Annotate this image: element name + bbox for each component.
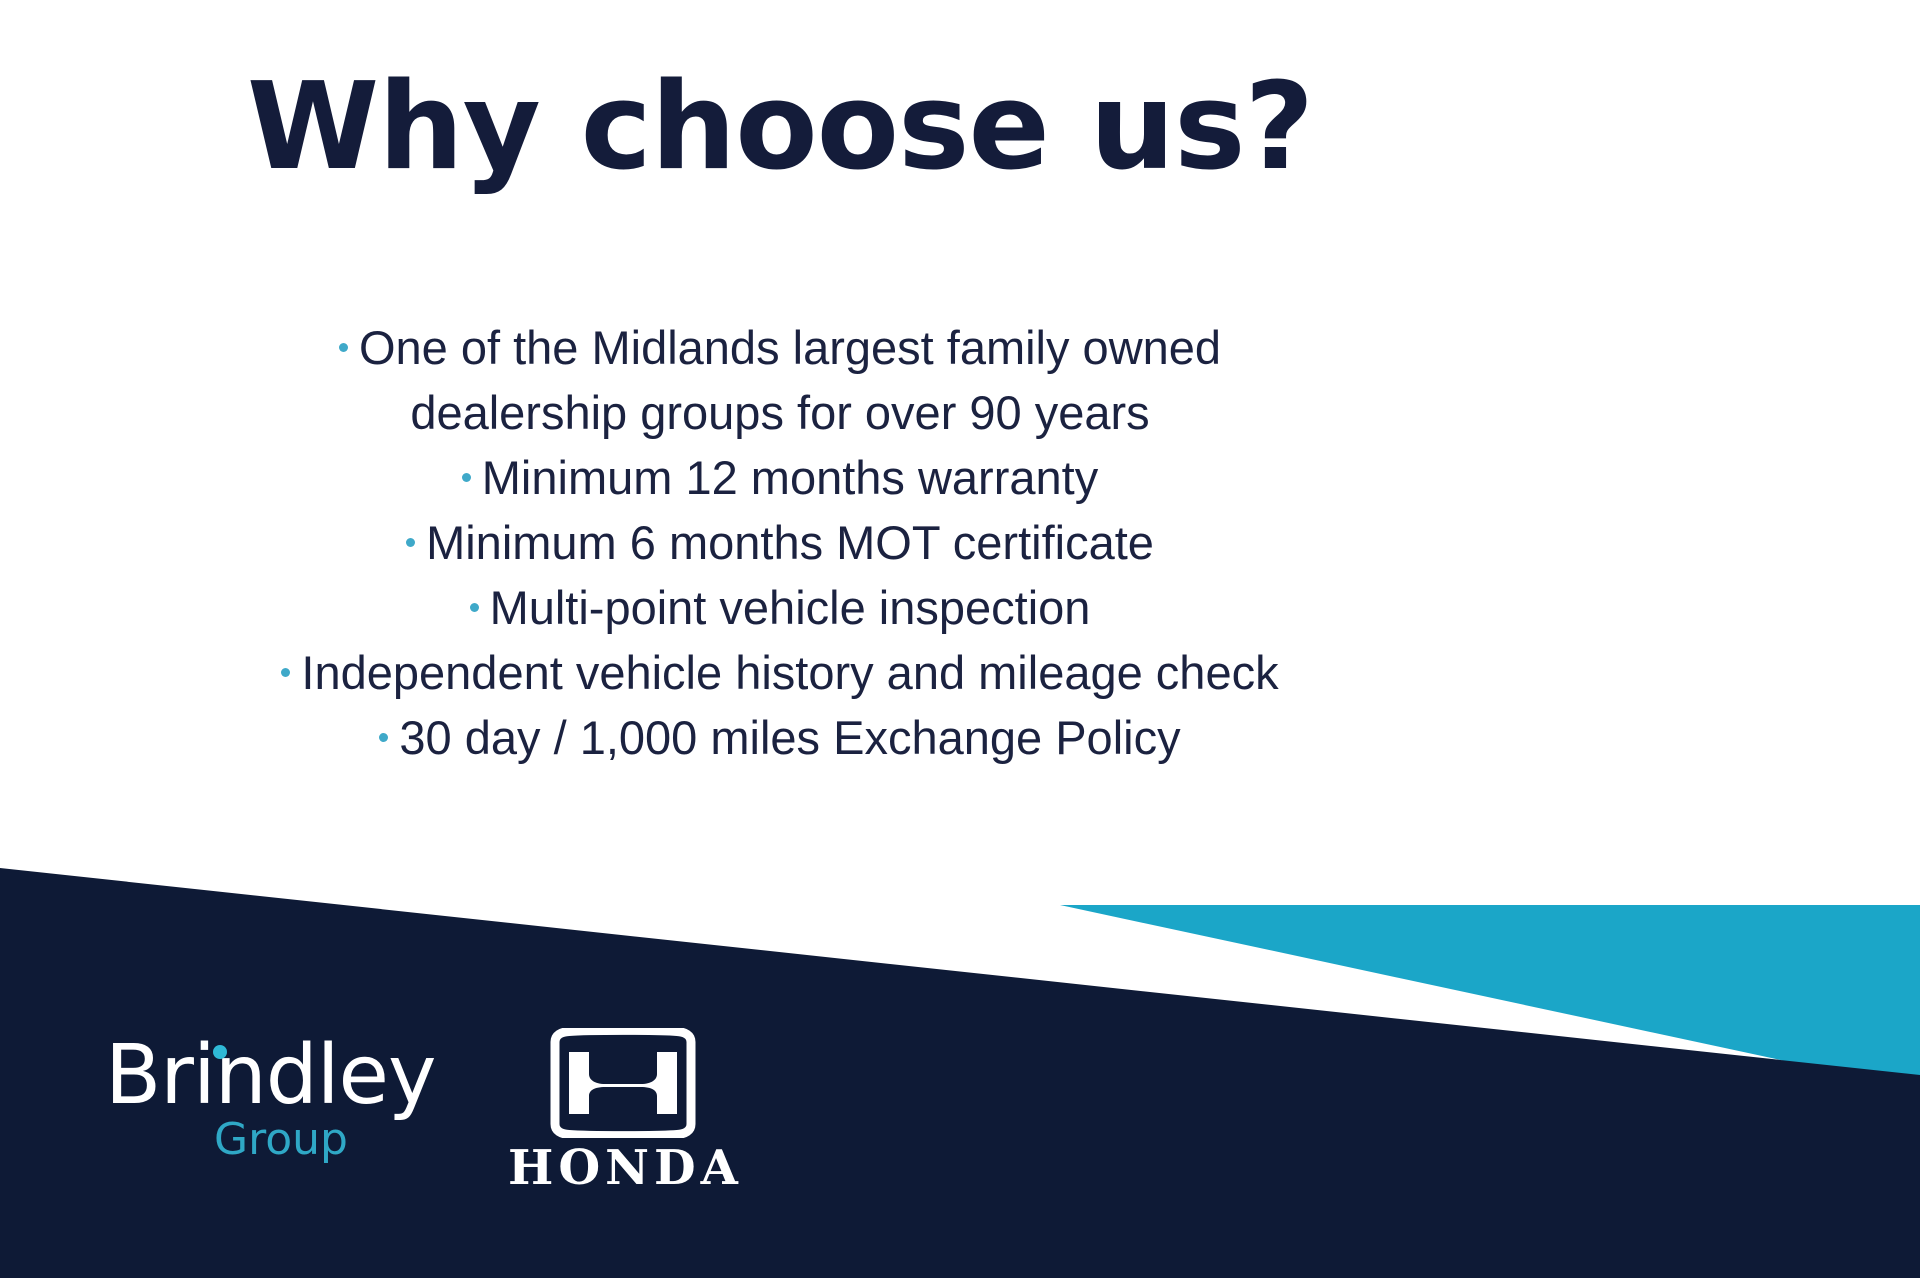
list-item-label: One of the Midlands largest family owned	[359, 321, 1221, 374]
list-item-label: Independent vehicle history and mileage …	[301, 646, 1278, 699]
list-item: One of the Midlands largest family owned	[0, 315, 1560, 380]
honda-wordmark: HONDA	[508, 1144, 738, 1192]
brindley-wordmark-text: Brindley	[105, 1028, 436, 1123]
page-title: Why choose us?	[0, 68, 1560, 188]
bullet-dot-icon	[339, 343, 348, 352]
list-item-label: 30 day / 1,000 miles Exchange Policy	[399, 711, 1180, 764]
list-item: Multi-point vehicle inspection	[0, 575, 1560, 640]
brindley-group-logo: Brindley Group	[105, 1032, 485, 1165]
list-item: dealership groups for over 90 years	[0, 380, 1560, 445]
list-item-label: dealership groups for over 90 years	[410, 386, 1149, 439]
list-item: Minimum 6 months MOT certificate	[0, 510, 1560, 575]
list-item: Minimum 12 months warranty	[0, 445, 1560, 510]
bullet-dot-icon	[470, 603, 479, 612]
bullet-dot-icon	[406, 538, 415, 547]
bullet-dot-icon	[281, 668, 290, 677]
bullet-dot-icon	[462, 473, 471, 482]
benefits-list: One of the Midlands largest family owned…	[0, 315, 1560, 770]
list-item: Independent vehicle history and mileage …	[0, 640, 1560, 705]
list-item: 30 day / 1,000 miles Exchange Policy	[0, 705, 1560, 770]
list-item-label: Multi-point vehicle inspection	[490, 581, 1091, 634]
bullet-dot-icon	[379, 733, 388, 742]
slide-root: Why choose us? One of the Midlands large…	[0, 0, 1920, 1278]
honda-logo: HONDA	[508, 1028, 738, 1192]
brindley-wordmark: Brindley	[105, 1032, 436, 1120]
list-item-label: Minimum 12 months warranty	[482, 451, 1098, 504]
brindley-dot-icon	[213, 1045, 227, 1059]
list-item-label: Minimum 6 months MOT certificate	[426, 516, 1154, 569]
honda-h-emblem-icon	[543, 1028, 703, 1138]
footer-logo-row: Brindley Group HONDA	[0, 1020, 1920, 1220]
